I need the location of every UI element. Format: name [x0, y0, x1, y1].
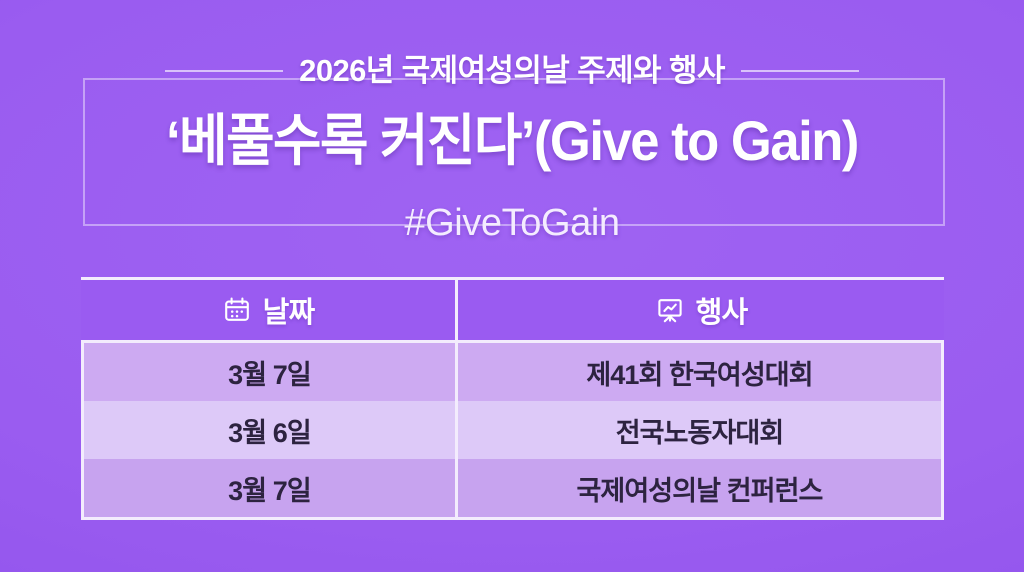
calendar-icon: [222, 295, 252, 325]
column-header-event-label: 행사: [696, 289, 748, 331]
presentation-chart-icon: [655, 295, 685, 325]
column-header-event: 행사: [458, 280, 944, 340]
eyebrow-row: 2026년 국제여성의날 주제와 행사: [0, 52, 1024, 91]
row-date-cell: 3월 7일: [84, 459, 455, 517]
table-header-row: 날짜 행사: [81, 280, 944, 340]
eyebrow-rule-right: [741, 70, 859, 72]
infographic-card: 2026년 국제여성의날 주제와 행사 ‘베풀수록 커진다’(Give to G…: [0, 0, 1024, 572]
page-title: ‘베풀수록 커진다’(Give to Gain): [31, 108, 994, 174]
row-event-cell: 전국노동자대회: [458, 401, 941, 459]
row-event-cell: 국제여성의날 컨퍼런스: [458, 459, 941, 517]
table-row: 3월 7일 제41회 한국여성대회: [84, 343, 941, 401]
hashtag-text: #GiveToGain: [0, 199, 1024, 248]
eyebrow-rule-left: [165, 70, 283, 72]
hero-section: 2026년 국제여성의날 주제와 행사 ‘베풀수록 커진다’(Give to G…: [0, 0, 1024, 265]
column-header-date-label: 날짜: [263, 289, 315, 331]
table-row: 3월 7일 국제여성의날 컨퍼런스: [84, 459, 941, 517]
schedule-table: 날짜 행사 3월 7일 제41회 한국여: [81, 277, 944, 520]
eyebrow-text: 2026년 국제여성의날 주제와 행사: [283, 52, 741, 91]
row-event-cell: 제41회 한국여성대회: [458, 343, 941, 401]
row-date-cell: 3월 7일: [84, 343, 455, 401]
table-body: 3월 7일 제41회 한국여성대회 3월 6일 전국노동자대회 3월 7일 국제…: [81, 343, 944, 520]
table-row: 3월 6일 전국노동자대회: [84, 401, 941, 459]
row-date-cell: 3월 6일: [84, 401, 455, 459]
column-header-date: 날짜: [81, 280, 455, 340]
